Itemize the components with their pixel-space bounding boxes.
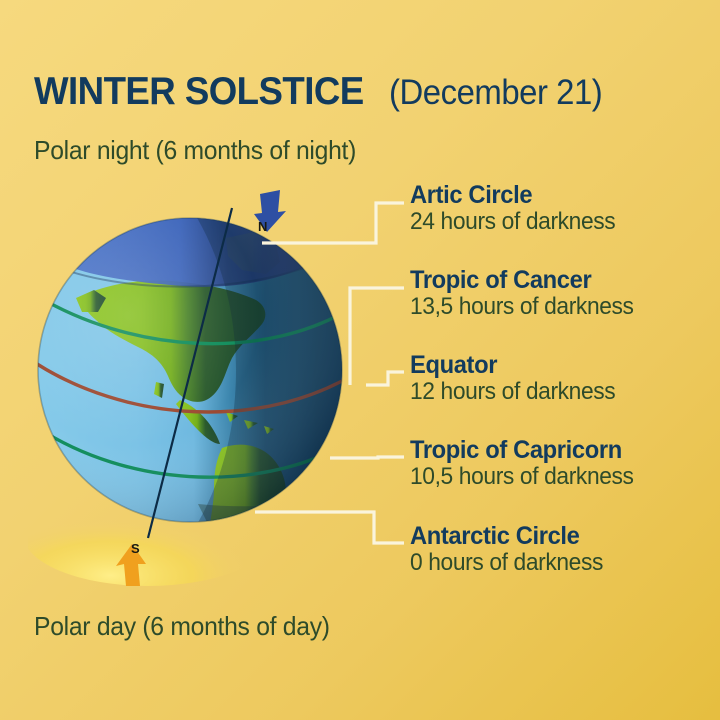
callout-tropic-of-cancer-title: Tropic of Cancer bbox=[410, 267, 700, 293]
globe-illustration bbox=[28, 186, 388, 586]
title-main-text: WINTER SOLSTICE bbox=[34, 72, 364, 111]
callout-equator-title: Equator bbox=[410, 352, 700, 378]
header: WINTER SOLSTICE(December 21) bbox=[34, 72, 694, 111]
callout-arctic-circle-title: Artic Circle bbox=[410, 182, 700, 208]
callout-equator[interactable]: Equator 12 hours of darkness bbox=[410, 352, 715, 406]
footer-polar-day: Polar day (6 months of day) bbox=[34, 611, 330, 642]
callout-tropic-of-capricorn[interactable]: Tropic of Capricorn 10,5 hours of darkne… bbox=[410, 437, 715, 491]
callout-arctic-circle-value: 24 hours of darkness bbox=[410, 209, 700, 236]
callout-tropic-of-capricorn-value: 10,5 hours of darkness bbox=[410, 464, 700, 491]
south-pole-label: S bbox=[131, 541, 140, 556]
callout-tropic-of-cancer[interactable]: Tropic of Cancer 13,5 hours of darkness bbox=[410, 267, 715, 321]
callout-antarctic-circle[interactable]: Antarctic Circle 0 hours of darkness bbox=[410, 523, 715, 577]
callout-equator-value: 12 hours of darkness bbox=[410, 379, 700, 406]
callout-antarctic-circle-value: 0 hours of darkness bbox=[410, 550, 700, 577]
callout-tropic-of-cancer-value: 13,5 hours of darkness bbox=[410, 294, 700, 321]
callout-tropic-of-capricorn-title: Tropic of Capricorn bbox=[410, 437, 700, 463]
callout-arctic-circle[interactable]: Artic Circle 24 hours of darkness bbox=[410, 182, 715, 236]
winter-solstice-infographic: WINTER SOLSTICE(December 21) Polar night… bbox=[0, 0, 720, 720]
callout-antarctic-circle-title: Antarctic Circle bbox=[410, 523, 700, 549]
title-date-text: (December 21) bbox=[389, 75, 602, 110]
north-pole-label: N bbox=[258, 219, 267, 234]
page-title: WINTER SOLSTICE(December 21) bbox=[34, 72, 694, 111]
subtitle-polar-night: Polar night (6 months of night) bbox=[34, 135, 356, 166]
